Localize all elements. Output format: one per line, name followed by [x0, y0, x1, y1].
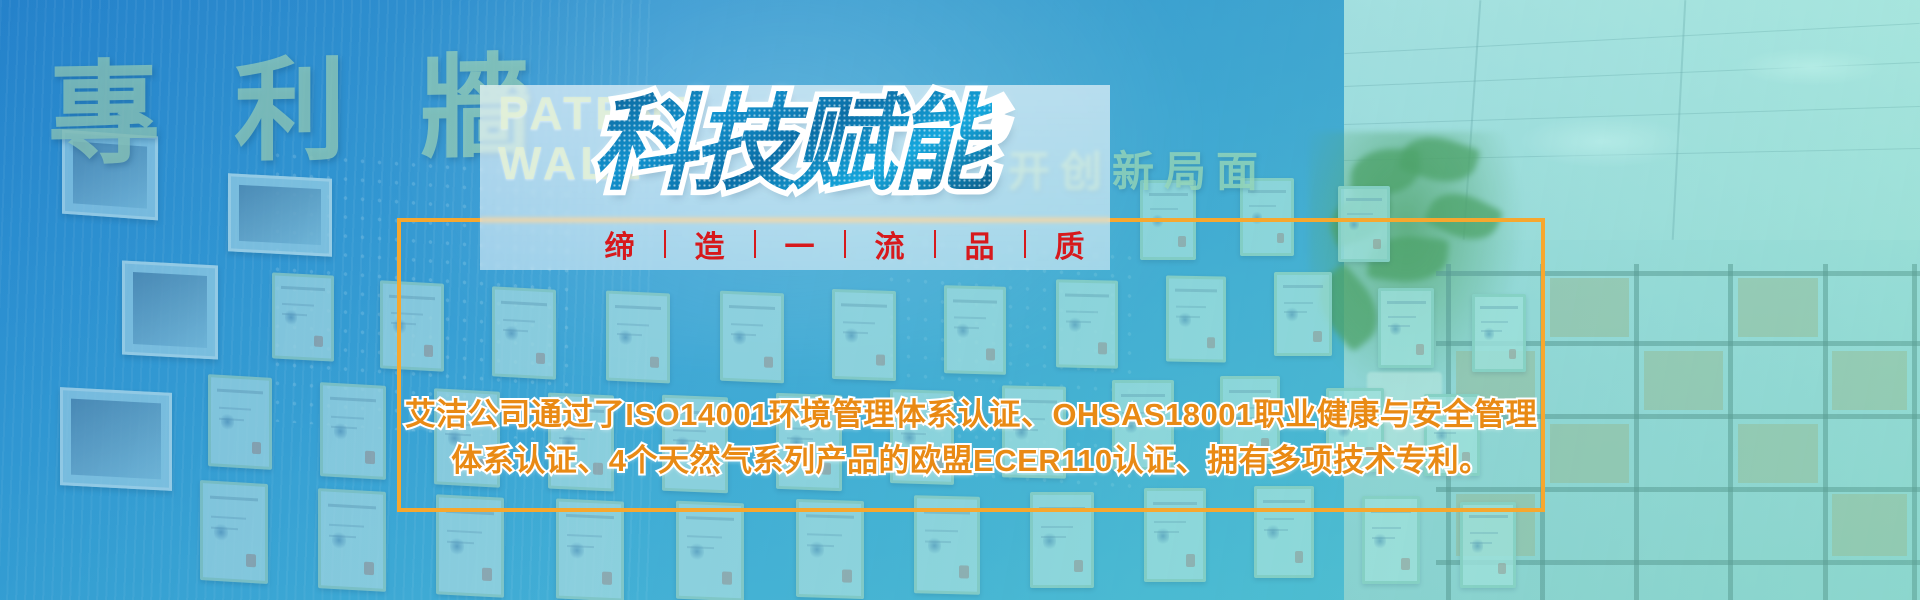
slogan-char-3: 流 — [862, 222, 918, 266]
slogan-separator — [1024, 230, 1026, 258]
slogan-char-0: 缔 — [592, 222, 648, 266]
slogan-char-5: 质 — [1042, 222, 1098, 266]
body-paragraph: 艾洁公司通过了ISO14001环境管理体系认证、OHSAS18001职业健康与安… — [397, 392, 1545, 484]
slogan-separator — [664, 230, 666, 258]
slogan-char-4: 品 — [952, 222, 1008, 266]
headline-group: 科技赋能 科技赋能 — [592, 88, 1012, 210]
slogan-separator — [844, 230, 846, 258]
slogan-separator — [934, 230, 936, 258]
slogan-separator — [754, 230, 756, 258]
slogan-char-2: 一 — [772, 222, 828, 266]
red-slogan: 缔 造 一 流 品 质 — [592, 222, 1098, 266]
patent-wall-banner: 專利牆 开创新局面 PATENT WALL 科技赋能 科技赋能 缔 造 一 流 … — [0, 0, 1920, 600]
headline-text: 科技赋能 — [592, 88, 992, 200]
slogan-char-1: 造 — [682, 222, 738, 266]
